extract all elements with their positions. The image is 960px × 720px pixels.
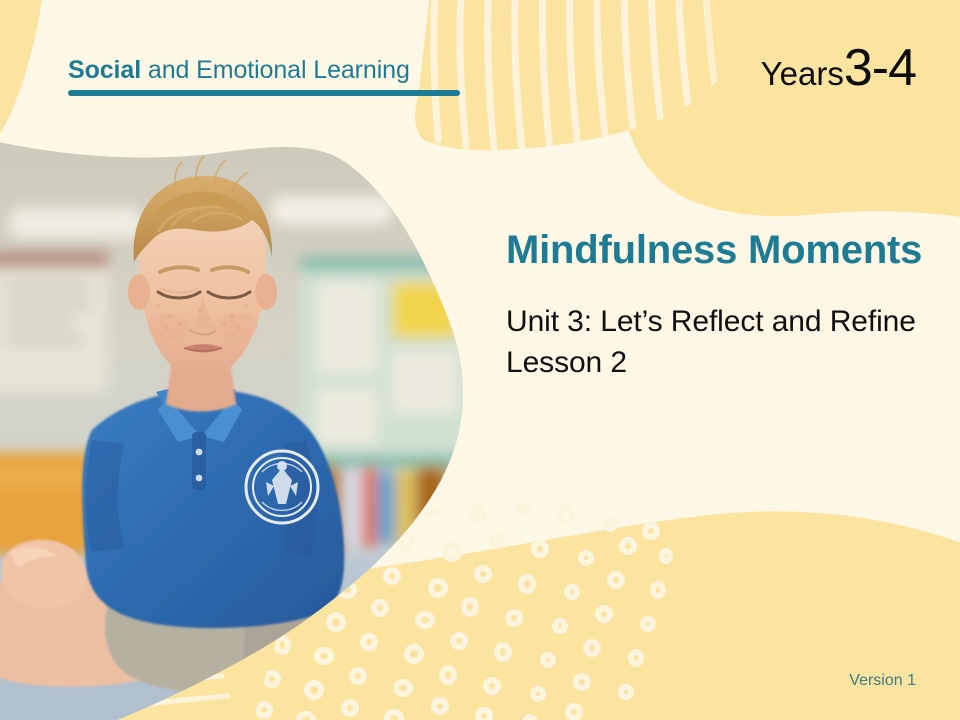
hero-photo — [0, 120, 520, 720]
slide-root: Social and Emotional Learning Years3-4 M… — [0, 0, 960, 720]
version-label: Version 1 — [849, 672, 916, 690]
year-level-badge: Years3-4 — [761, 42, 916, 94]
yellow-sliver-top-left — [0, 0, 42, 134]
ring-dot-pattern-icon — [215, 500, 670, 720]
school-crest-badge — [246, 451, 318, 523]
arc-lines-icon — [0, 620, 228, 720]
brand-underline — [68, 90, 460, 96]
brand-title-rest: and Emotional Learning — [141, 56, 410, 84]
unit-subtitle: Unit 3: Let’s Reflect and Refine — [506, 301, 926, 342]
brand-title: Social and Emotional Learning — [68, 57, 460, 85]
lesson-label: Lesson 2 — [506, 342, 926, 383]
title-block: Mindfulness Moments Unit 3: Let’s Reflec… — [506, 226, 926, 384]
yellow-band-bottom — [0, 490, 960, 720]
page-title: Mindfulness Moments — [506, 226, 926, 275]
yellow-blob-top-right — [560, 0, 960, 250]
brand-title-strong: Social — [68, 56, 141, 84]
year-level-value: 3-4 — [844, 39, 916, 97]
brand-lockup: Social and Emotional Learning — [68, 57, 460, 96]
year-level-label: Years — [761, 55, 844, 92]
